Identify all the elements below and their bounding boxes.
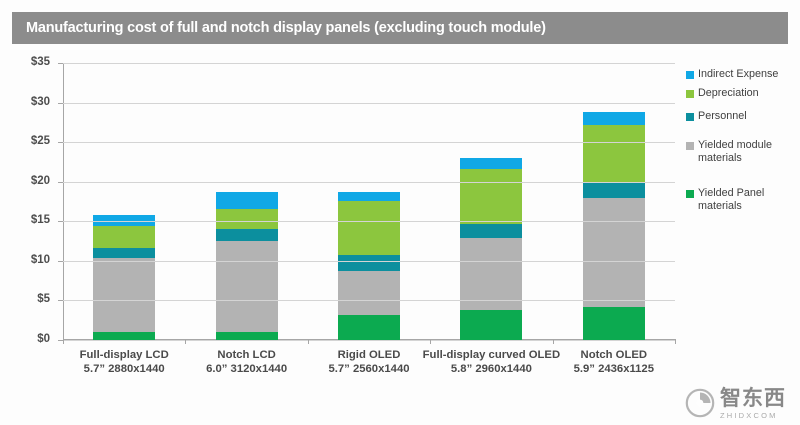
bar-segment[interactable]	[583, 125, 645, 184]
x-axis-tick	[63, 339, 64, 344]
y-axis-tick	[58, 63, 63, 64]
legend-swatch-icon	[686, 142, 694, 150]
x-axis-tick	[430, 339, 431, 344]
legend-item-label: Yielded module materials	[698, 139, 798, 165]
legend-item-5[interactable]: Yielded Panel materials	[686, 187, 798, 213]
gridline	[63, 300, 675, 301]
y-axis-tick-label: $35	[0, 56, 50, 68]
y-axis-tick-label: $0	[0, 333, 50, 345]
legend-item-label: Indirect Expense	[698, 68, 778, 81]
bar-segment[interactable]	[460, 238, 522, 310]
bar-segment[interactable]	[216, 192, 278, 209]
y-axis-tick-label: $20	[0, 175, 50, 187]
legend-swatch-icon	[686, 190, 694, 198]
bar-1[interactable]	[93, 215, 155, 340]
bar-segment[interactable]	[338, 201, 400, 255]
bar-segment[interactable]	[583, 183, 645, 197]
legend-item-3[interactable]: Personnel	[686, 110, 798, 123]
y-axis-tick	[58, 142, 63, 143]
legend-item-1[interactable]: Indirect Expense	[686, 68, 798, 81]
gridline	[63, 261, 675, 262]
legend-swatch-icon	[686, 90, 694, 98]
x-axis-tick	[675, 339, 676, 344]
bar-5[interactable]	[583, 112, 645, 340]
bar-segment[interactable]	[216, 209, 278, 230]
gridline	[63, 63, 675, 64]
legend-item-4[interactable]: Yielded module materials	[686, 139, 798, 165]
bar-segment[interactable]	[583, 198, 645, 307]
bar-segment[interactable]	[583, 112, 645, 125]
bar-segment[interactable]	[216, 241, 278, 332]
y-axis-tick	[58, 261, 63, 262]
x-axis-label-5: Notch OLED 5.9” 2436x1125	[539, 348, 689, 376]
bar-segment[interactable]	[338, 255, 400, 272]
x-axis-tick	[308, 339, 309, 344]
y-axis-tick	[58, 300, 63, 301]
bar-segment[interactable]	[338, 315, 400, 340]
x-axis-tick	[553, 339, 554, 344]
legend-item-label: Depreciation	[698, 87, 759, 100]
legend-swatch-icon	[686, 71, 694, 79]
bar-segment[interactable]	[338, 192, 400, 201]
bar-segment[interactable]	[583, 307, 645, 340]
bar-segment[interactable]	[216, 229, 278, 241]
chart-canvas: $0$5$10$15$20$25$30$35 Full-display LCD …	[0, 52, 800, 425]
y-axis-tick-label: $10	[0, 254, 50, 266]
bar-segment[interactable]	[93, 258, 155, 332]
chart-title-bar: Manufacturing cost of full and notch dis…	[12, 12, 788, 44]
bar-segment[interactable]	[338, 271, 400, 315]
legend-item-2[interactable]: Depreciation	[686, 87, 798, 100]
gridline	[63, 221, 675, 222]
chart-page: Manufacturing cost of full and notch dis…	[0, 0, 800, 425]
gridline	[63, 103, 675, 104]
bar-segment[interactable]	[460, 169, 522, 224]
y-axis-tick	[58, 182, 63, 183]
bar-segment[interactable]	[93, 248, 155, 257]
plot-area	[63, 63, 675, 340]
bar-4[interactable]	[460, 158, 522, 340]
bar-segment[interactable]	[460, 158, 522, 169]
bar-segment[interactable]	[460, 310, 522, 340]
y-axis-tick-label: $15	[0, 214, 50, 226]
y-axis-tick-label: $30	[0, 96, 50, 108]
bar-segment[interactable]	[460, 224, 522, 237]
gridline	[63, 142, 675, 143]
bar-3[interactable]	[338, 192, 400, 340]
x-axis-tick	[185, 339, 186, 344]
gridline	[63, 340, 675, 341]
bar-segment[interactable]	[216, 332, 278, 340]
y-axis-tick	[58, 221, 63, 222]
chart-legend: Indirect ExpenseDepreciationPersonnelYie…	[686, 68, 798, 223]
page-title: Manufacturing cost of full and notch dis…	[12, 20, 546, 36]
y-axis-tick-label: $5	[0, 293, 50, 305]
y-axis-tick	[58, 103, 63, 104]
legend-swatch-icon	[686, 113, 694, 121]
bar-2[interactable]	[216, 192, 278, 340]
legend-item-label: Yielded Panel materials	[698, 187, 798, 213]
bar-segment[interactable]	[93, 332, 155, 340]
gridline	[63, 182, 675, 183]
bar-segment[interactable]	[93, 226, 155, 248]
legend-item-label: Personnel	[698, 110, 747, 123]
y-axis-tick-label: $25	[0, 135, 50, 147]
